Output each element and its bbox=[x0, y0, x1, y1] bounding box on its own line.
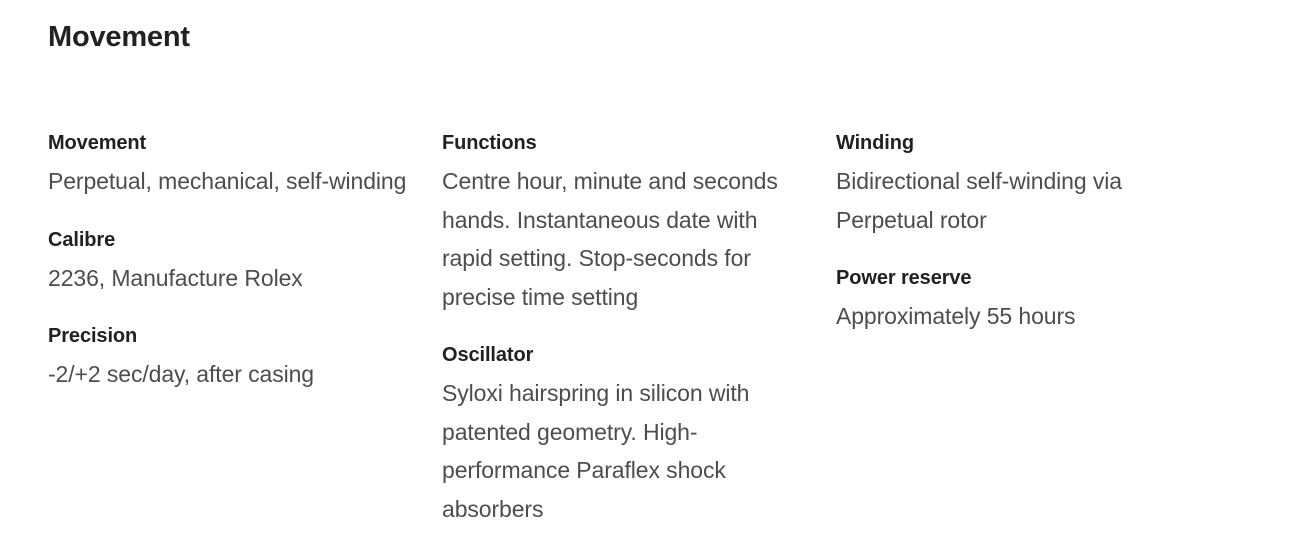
spec-block: Calibre 2236, Manufacture Rolex bbox=[48, 221, 414, 298]
movement-specifications-page: Movement Movement Perpetual, mechanical,… bbox=[0, 0, 1310, 549]
spec-block: Functions Centre hour, minute and second… bbox=[442, 124, 808, 316]
spec-label: Power reserve bbox=[836, 259, 1202, 297]
spec-value: Bidirectional self-winding via Perpetual… bbox=[836, 162, 1202, 239]
spec-value: -2/+2 sec/day, after casing bbox=[48, 355, 414, 394]
spec-value: 2236, Manufacture Rolex bbox=[48, 259, 414, 298]
spec-column-1: Movement Perpetual, mechanical, self-win… bbox=[48, 124, 442, 394]
spec-block: Movement Perpetual, mechanical, self-win… bbox=[48, 124, 414, 201]
spec-value: Perpetual, mechanical, self-winding bbox=[48, 162, 414, 201]
spec-block: Oscillator Syloxi hairspring in silicon … bbox=[442, 336, 808, 528]
spec-label: Winding bbox=[836, 124, 1202, 162]
spec-value: Centre hour, minute and seconds hands. I… bbox=[442, 162, 808, 316]
spec-value: Syloxi hairspring in silicon with patent… bbox=[442, 374, 808, 528]
spec-label: Precision bbox=[48, 317, 414, 355]
spec-column-3: Winding Bidirectional self-winding via P… bbox=[836, 124, 1230, 336]
spec-label: Calibre bbox=[48, 221, 414, 259]
spec-block: Winding Bidirectional self-winding via P… bbox=[836, 124, 1202, 239]
spec-label: Functions bbox=[442, 124, 808, 162]
spec-columns: Movement Perpetual, mechanical, self-win… bbox=[48, 124, 1278, 528]
spec-block: Precision -2/+2 sec/day, after casing bbox=[48, 317, 414, 394]
spec-column-2: Functions Centre hour, minute and second… bbox=[442, 124, 836, 528]
spec-block: Power reserve Approximately 55 hours bbox=[836, 259, 1202, 336]
spec-label: Oscillator bbox=[442, 336, 808, 374]
page-title: Movement bbox=[48, 18, 190, 56]
spec-value: Approximately 55 hours bbox=[836, 297, 1202, 336]
spec-label: Movement bbox=[48, 124, 414, 162]
